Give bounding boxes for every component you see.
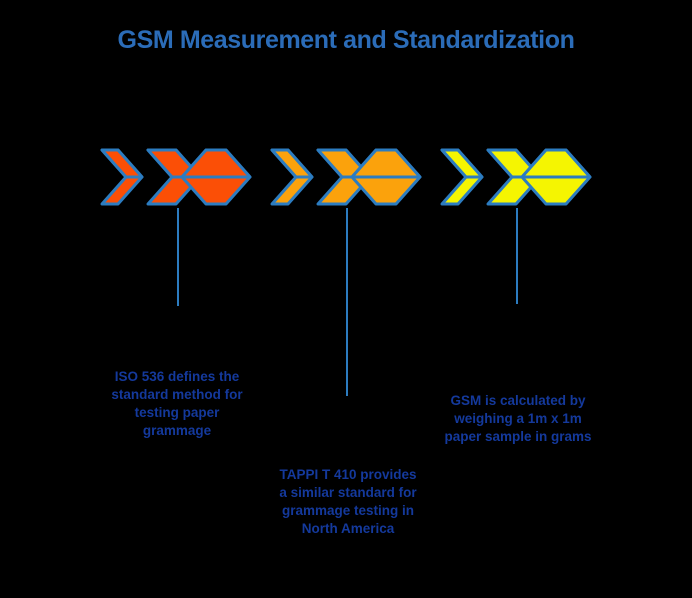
chevron-group-2-graphic — [270, 148, 422, 206]
connector-line-3 — [516, 208, 518, 304]
chevron-group-3[interactable] — [440, 148, 592, 206]
connector-line-2 — [346, 208, 348, 396]
chevron-small-2 — [272, 150, 312, 204]
chevron-small-3 — [442, 150, 482, 204]
chevron-group-1-graphic — [100, 148, 252, 206]
chevron-large-3 — [522, 150, 590, 204]
chevron-group-3-graphic — [440, 148, 592, 206]
chevron-group-2[interactable] — [270, 148, 422, 206]
chevron-large-1 — [182, 150, 250, 204]
page-title: GSM Measurement and Standardization — [0, 26, 692, 55]
infographic-canvas: GSM Measurement and Standardization — [0, 0, 692, 598]
chevron-small-1 — [102, 150, 142, 204]
step-caption-1: ISO 536 defines the standard method for … — [106, 368, 248, 440]
connector-line-1 — [177, 208, 179, 306]
chevron-large-2 — [352, 150, 420, 204]
step-caption-2: TAPPI T 410 provides a similar standard … — [275, 466, 421, 538]
chevron-group-1[interactable] — [100, 148, 252, 206]
step-caption-3: GSM is calculated by weighing a 1m x 1m … — [444, 392, 592, 446]
